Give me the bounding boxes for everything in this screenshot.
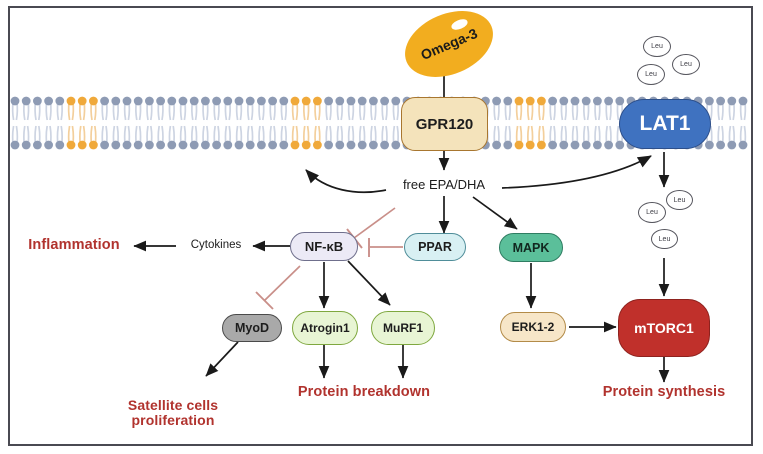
edge-nfkb-to-murf1 <box>348 261 390 305</box>
edge-free-epa-to-lat1 <box>502 156 651 188</box>
leucine-molecule: Leu <box>637 64 665 85</box>
edge-free-epa-to-mapk <box>473 197 517 229</box>
leucine-label: Leu <box>659 236 671 243</box>
edge-free-epa-to-gpr120-curve <box>306 170 386 192</box>
leucine-molecule: Leu <box>666 190 693 210</box>
leucine-label: Leu <box>651 43 663 50</box>
outcome-protein-breakdown: Protein breakdown <box>283 384 445 400</box>
leucine-molecule: Leu <box>643 36 671 57</box>
edge-myod-to-satellite-cells <box>206 342 238 376</box>
leucine-molecule: Leu <box>672 54 700 75</box>
pathway-diagram: Omega-3 GPR120 LAT1 free EPA/DHA Cytokin… <box>0 0 763 454</box>
leucine-label: Leu <box>646 209 658 216</box>
leucine-molecule: Leu <box>638 202 666 223</box>
omega-3-label: Omega-3 <box>418 25 479 63</box>
leucine-label: Leu <box>680 61 692 68</box>
leucine-molecule: Leu <box>651 229 678 249</box>
cytokines-label: Cytokines <box>178 239 254 251</box>
leucine-label: Leu <box>645 71 657 78</box>
outcome-protein-synthesis: Protein synthesis <box>585 384 743 400</box>
leucine-label: Leu <box>674 197 686 204</box>
free-epa-dha-label: free EPA/DHA <box>384 177 504 192</box>
edge-nfkb-inhibits-myod <box>256 266 300 309</box>
outcome-inflammation: Inflammation <box>14 237 134 253</box>
outcome-satellite-cells: Satellite cells proliferation <box>92 382 254 429</box>
phospholipid-bilayer <box>10 96 751 150</box>
edge-free-epa-inhibits-nfkb <box>347 208 395 248</box>
edge-ppar-inhibits-nfkb <box>369 238 403 257</box>
